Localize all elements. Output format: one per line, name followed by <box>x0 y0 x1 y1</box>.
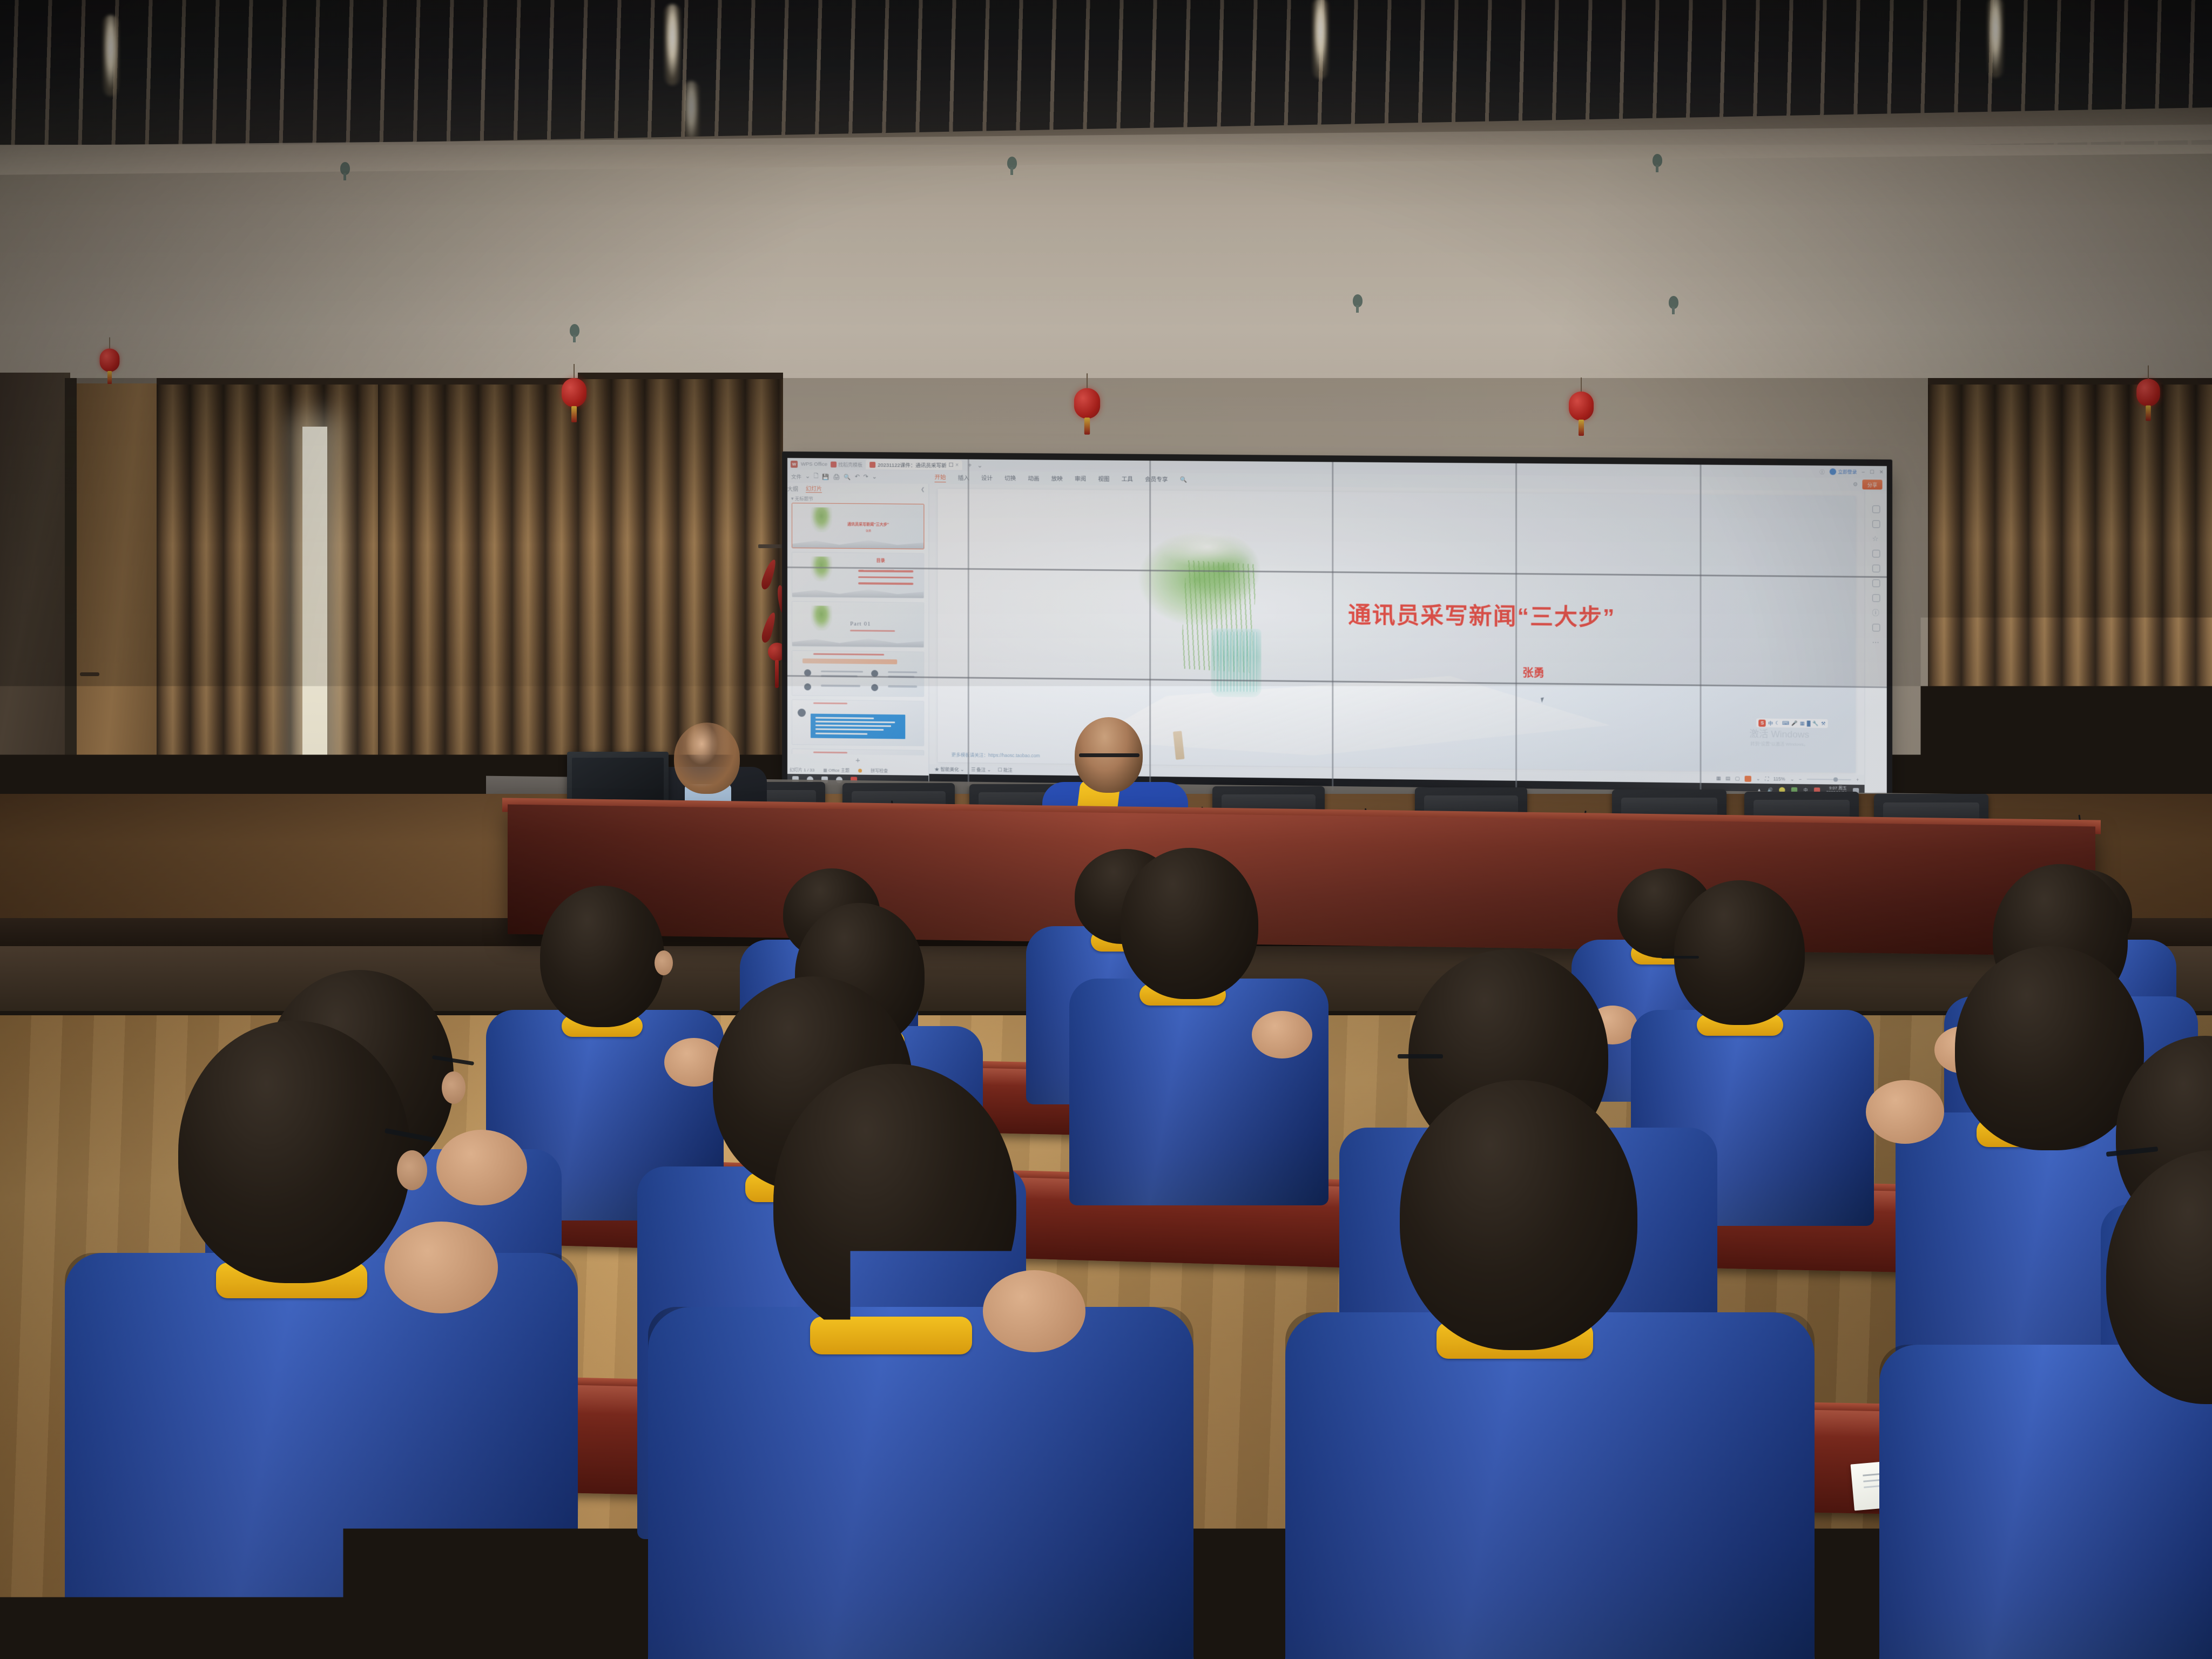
panel-icon[interactable]: ▦ <box>1800 720 1805 726</box>
smoke-detector <box>1007 157 1017 170</box>
ribbon-tab-view[interactable]: 视图 <box>1098 475 1109 483</box>
ribbon-tabs: 开始 插入 设计 切换 动画 放映 审阅 视图 工具 会员专享 🔍 <box>929 473 1187 484</box>
slide-editor[interactable]: 通讯员采写新闻“三大步” 张勇 激活 Windows 转到“设置”以激活 Win… <box>929 484 1864 797</box>
quick-access-toolbar: 文件 ⌄ 🗋 💾 🖨 🔍 ↶ ↷ ⌄ <box>787 471 929 482</box>
wps-office-window[interactable]: W WPS Office 找稻壳模板 20231122课件：通讯员采写新 ☐ ×… <box>787 458 1887 797</box>
thumb-title: 通讯员采写新闻“三大步” <box>847 522 889 528</box>
fit-to-window-icon[interactable]: ⛶ <box>1765 775 1768 781</box>
wps-logo-icon: W <box>791 461 798 468</box>
thumb-sub: 张勇 <box>866 529 871 532</box>
template-tab-label: 找稻壳模板 <box>838 461 862 468</box>
design-ideas-icon[interactable] <box>1872 520 1879 528</box>
menu-bar-right: ⚙ 分享 <box>1853 480 1887 490</box>
add-slide-button[interactable]: + <box>787 754 928 767</box>
canvas-area: 通讯员采写新闻“三大步” 张勇 激活 Windows 转到“设置”以激活 Win… <box>929 484 1864 775</box>
layout-icon[interactable] <box>1872 594 1879 602</box>
ribbon-tab-member[interactable]: 会员专享 <box>1145 475 1168 483</box>
more-icon[interactable]: ⋯ <box>1872 638 1879 646</box>
thumbnail-slide-1[interactable]: 1 通讯员采写新闻“三大步” 张勇 <box>792 503 924 549</box>
undo-icon[interactable]: ↶ <box>855 474 860 480</box>
thumbnail-slide-4[interactable]: 4 <box>792 650 924 697</box>
ribbon-tab-slideshow[interactable]: 放映 <box>1051 474 1063 482</box>
sogou-logo-icon: S <box>1759 719 1766 726</box>
chevron-down-icon[interactable]: ⌄ <box>805 473 810 480</box>
windows-activation-watermark: 激活 Windows 转到“设置”以激活 Windows。 <box>1750 726 1810 747</box>
presenter-glasses <box>1079 753 1139 757</box>
template-icon <box>831 461 837 467</box>
slideshow-dropdown-icon[interactable]: ⌄ <box>1756 775 1760 781</box>
comments-button[interactable]: ☐ 批注 <box>998 767 1013 773</box>
presentation-icon <box>869 462 875 468</box>
title-bar-right: ⓘ 立即登录 – ☐ ✕ <box>1820 468 1884 476</box>
ceiling-light <box>103 15 119 96</box>
slide-author[interactable]: 张勇 <box>1522 664 1545 680</box>
save-icon[interactable]: 💾 <box>822 473 829 480</box>
search-icon[interactable]: 🔍 <box>1180 476 1187 483</box>
document-tab-label: 20231122课件：通讯员采写新 <box>878 461 946 469</box>
new-file-icon[interactable]: 🗋 <box>814 471 818 481</box>
reading-view-icon[interactable]: ▢ <box>1735 775 1739 781</box>
red-lantern <box>562 378 586 407</box>
new-tab-icon[interactable]: + <box>968 461 972 469</box>
status-bar-right: ▦ ▤ ▢ ⌄ ⛶ 115% ⌄ − + <box>1716 775 1859 783</box>
slide-thumbnail-pane[interactable]: 大纲 幻灯片 ❮ ▾ 无标题节 1 通讯员采写新闻“三大步” 张勇 <box>787 483 929 786</box>
slide-footer-url: 更多模板请关注：https://haosc.taobao.com <box>952 752 1040 759</box>
tab-restore-icon[interactable]: ☐ <box>949 462 954 468</box>
smoke-detector <box>340 162 350 175</box>
favorite-icon[interactable]: ☆ <box>1872 535 1879 543</box>
redo-icon[interactable]: ↷ <box>864 474 868 480</box>
slide-sorter-icon[interactable]: ▤ <box>1725 775 1730 781</box>
spell-check-icon <box>858 768 862 772</box>
help-icon[interactable]: ⓘ <box>1820 468 1825 475</box>
dais-front-panel <box>508 804 2095 956</box>
zoom-in-button[interactable]: + <box>1856 777 1859 783</box>
play-slideshow-icon[interactable] <box>1744 775 1751 781</box>
ime-toolbar[interactable]: S 中 ☾ ⌨ 🎤 ▦ █ 🔧 ⚒ <box>1756 719 1827 729</box>
theme-label[interactable]: ▦ Office 主题 <box>823 767 849 773</box>
zoom-slider[interactable] <box>1807 779 1851 780</box>
red-lantern <box>2136 379 2160 406</box>
ribbon-tab-animation[interactable]: 动画 <box>1028 474 1039 482</box>
ribbon-tab-tools[interactable]: 工具 <box>1122 475 1133 483</box>
zoom-level-label[interactable]: 115% <box>1773 776 1785 781</box>
tools-icon[interactable] <box>1872 579 1879 587</box>
wrench-icon[interactable]: ⚒ <box>1821 720 1825 726</box>
toolbox-icon[interactable]: 🔧 <box>1812 720 1819 726</box>
ime-mode-label[interactable]: 中 <box>1768 719 1773 726</box>
smoke-detector <box>570 324 579 337</box>
auditorium-photo: W WPS Office 找稻壳模板 20231122课件：通讯员采写新 ☐ ×… <box>0 0 2212 1659</box>
notes-button[interactable]: ☰ 备注 ⌄ <box>971 766 991 773</box>
watermark-line-2: 转到“设置”以激活 Windows。 <box>1750 740 1810 747</box>
smoke-detector <box>1653 154 1662 167</box>
red-lantern <box>1569 392 1594 421</box>
slide-pane-tabs: 大纲 幻灯片 ❮ <box>787 483 928 495</box>
document-tab[interactable]: 20231122课件：通讯员采写新 ☐ × <box>866 460 962 470</box>
normal-view-icon[interactable]: ▦ <box>1716 775 1721 781</box>
customize-qat-icon[interactable]: ⌄ <box>872 474 877 480</box>
current-slide[interactable]: 通讯员采写新闻“三大步” 张勇 激活 Windows 转到“设置”以激活 Win… <box>938 489 1856 773</box>
login-button[interactable]: 立即登录 <box>1830 468 1857 475</box>
official-head <box>674 723 740 794</box>
print-icon[interactable]: 🖨 <box>833 473 840 480</box>
cloud-icon[interactable] <box>1872 550 1879 557</box>
zoom-out-button[interactable]: − <box>1799 777 1802 782</box>
ribbon-tab-design[interactable]: 设计 <box>981 474 993 482</box>
settings-icon[interactable]: ⚙ <box>1853 481 1858 487</box>
thumbnail-slide-3[interactable]: 3 Part 01 <box>792 601 924 648</box>
ribbon-tab-transition[interactable]: 切换 <box>1004 474 1016 482</box>
ceiling-light <box>664 4 680 85</box>
tab-slides[interactable]: 幻灯片 <box>806 484 822 493</box>
smoke-detector <box>1669 296 1678 309</box>
file-menu-button[interactable]: 文件 <box>791 473 801 480</box>
section-label[interactable]: ▾ 无标题节 <box>787 494 928 504</box>
smoke-detector <box>1353 294 1363 307</box>
keyboard-icon[interactable]: ⌨ <box>1782 720 1789 726</box>
tab-outline[interactable]: 大纲 <box>787 484 798 493</box>
tab-dropdown-icon[interactable]: ⌄ <box>977 462 982 469</box>
wps-body: 大纲 幻灯片 ❮ ▾ 无标题节 1 通讯员采写新闻“三大步” 张勇 <box>787 483 1887 797</box>
door-handle[interactable] <box>80 672 99 676</box>
smart-beautify-button[interactable]: ★ 智能美化 ⌄ <box>934 766 964 773</box>
ribbon-tab-start[interactable]: 开始 <box>934 473 946 482</box>
avatar <box>1830 468 1836 475</box>
mouse-cursor <box>1540 697 1545 703</box>
ribbon-tab-review[interactable]: 审阅 <box>1075 475 1086 483</box>
print-preview-icon[interactable]: 🔍 <box>844 473 851 480</box>
ceiling-light <box>1987 0 2004 78</box>
lcd-video-wall[interactable]: W WPS Office 找稻壳模板 20231122课件：通讯员采写新 ☐ ×… <box>787 458 1887 797</box>
help-icon[interactable]: ⓘ <box>1872 609 1879 617</box>
spell-label[interactable]: 拼写检查 <box>871 767 888 773</box>
ceiling-light <box>1312 0 1328 79</box>
wps-brand-label: WPS Office <box>801 461 827 467</box>
login-label: 立即登录 <box>1838 468 1857 475</box>
slide-title[interactable]: 通讯员采写新闻“三大步” <box>1348 596 1615 632</box>
resources-icon[interactable] <box>1872 564 1879 572</box>
slide-count-label: 幻灯片 1 / 33 <box>790 767 814 773</box>
slide-glass-vase <box>1211 628 1261 697</box>
thumbnail-list[interactable]: 1 通讯员采写新闻“三大步” 张勇 2 目录 <box>787 503 928 756</box>
red-lantern <box>100 348 120 372</box>
right-tool-sidebar[interactable]: ☆ ⓘ ⋯ <box>1865 491 1887 797</box>
zoom-dropdown-icon[interactable]: ⌄ <box>1790 776 1794 782</box>
watermark-line-1: 激活 Windows <box>1750 726 1810 740</box>
feedback-icon[interactable] <box>1872 624 1879 631</box>
moon-icon[interactable]: ☾ <box>1775 720 1779 726</box>
mic-icon[interactable]: 🎤 <box>1791 720 1798 726</box>
close-button[interactable]: ✕ <box>1879 469 1884 475</box>
thumb-title: Part 01 <box>850 621 871 628</box>
red-lantern <box>1074 388 1100 419</box>
minimize-button[interactable]: – <box>1862 469 1865 475</box>
video-wall-screen: W WPS Office 找稻壳模板 20231122课件：通讯员采写新 ☐ ×… <box>787 458 1887 797</box>
skin-icon[interactable]: █ <box>1807 721 1811 726</box>
tab-close-icon[interactable]: × <box>955 462 959 468</box>
template-tab[interactable]: 找稻壳模板 <box>831 461 862 468</box>
collapse-ribbon-icon[interactable] <box>1872 505 1879 513</box>
collapse-pane-icon[interactable]: ❮ <box>921 486 929 492</box>
share-button[interactable]: 分享 <box>1862 480 1882 490</box>
restore-button[interactable]: ☐ <box>1870 469 1874 475</box>
thumbnail-slide-2[interactable]: 2 目录 <box>792 552 924 598</box>
thumb-title: 目录 <box>876 558 885 564</box>
ribbon-tab-insert[interactable]: 插入 <box>958 474 969 482</box>
thumbnail-slide-5[interactable]: 5 <box>792 699 924 746</box>
